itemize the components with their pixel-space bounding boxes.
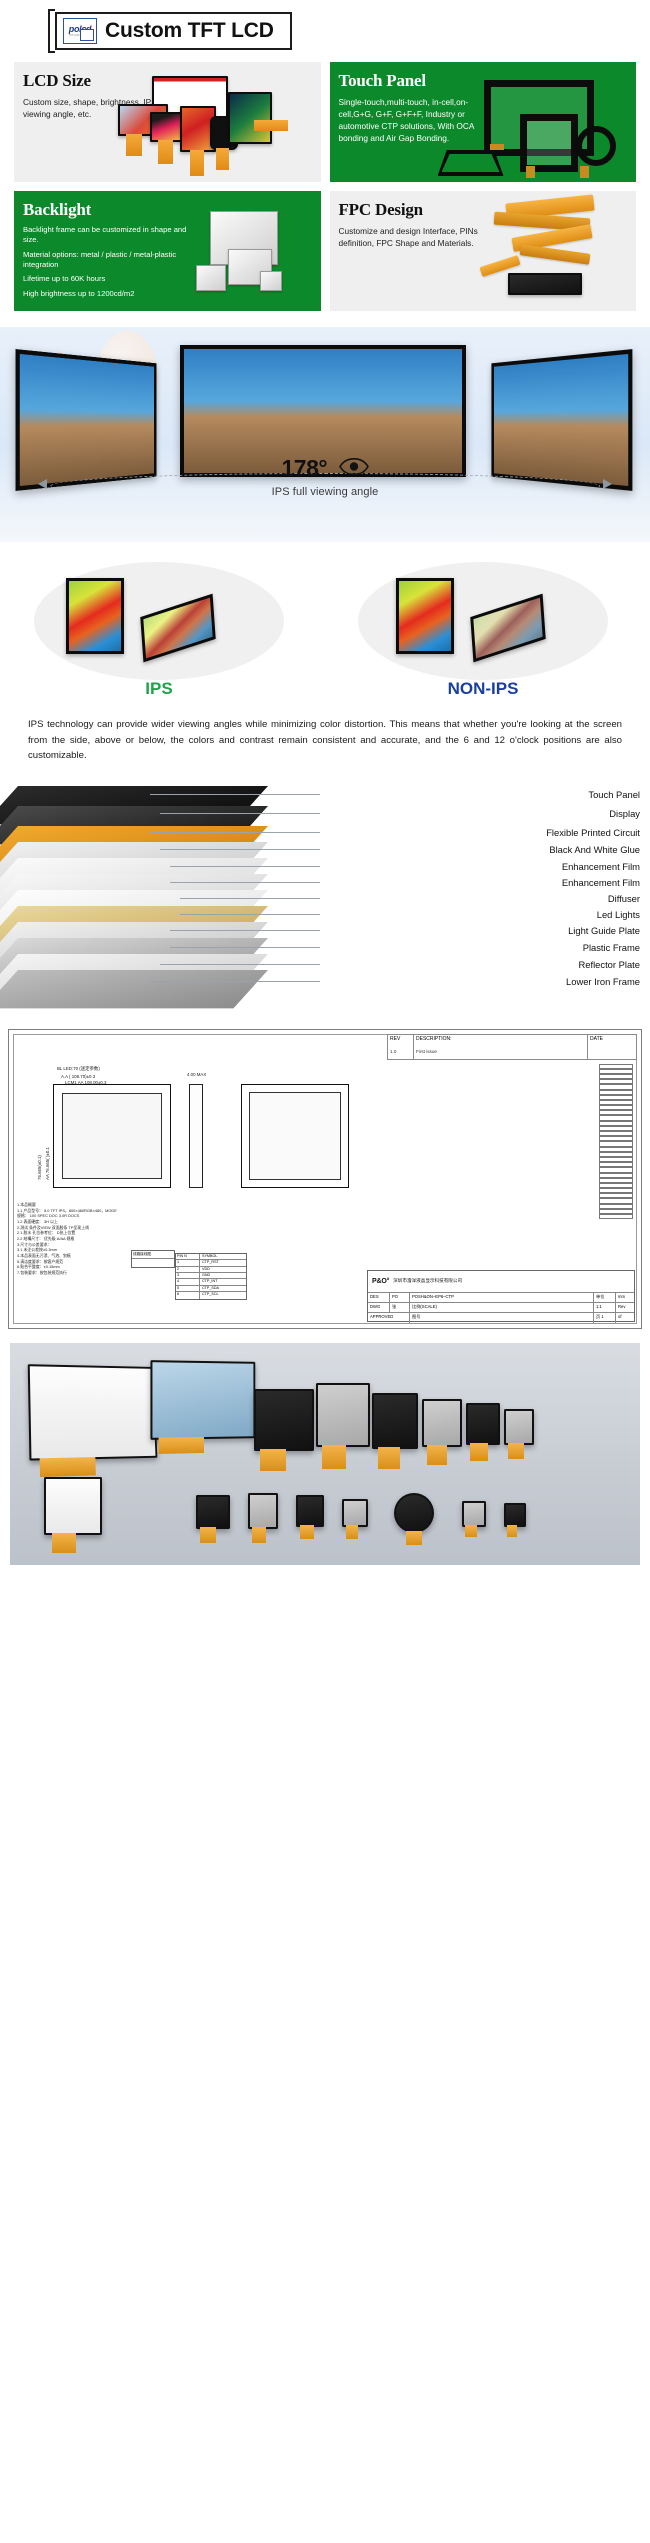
product-display-small-3 bbox=[372, 1393, 418, 1449]
feature-desc-backlight: Backlight frame can be customized in sha… bbox=[14, 225, 321, 299]
product-display-small-11 bbox=[462, 1501, 486, 1527]
layer-label: Display bbox=[609, 809, 640, 818]
pin-number: 1 bbox=[176, 1260, 200, 1265]
tb-cell-page: 页 1 bbox=[594, 1313, 616, 1323]
product-display-small-7 bbox=[196, 1495, 230, 1529]
pin-pad-row bbox=[599, 1214, 633, 1219]
pin-symbol: CTP_RST bbox=[200, 1260, 246, 1265]
ips-comparison: IPS NON-IPS bbox=[0, 556, 650, 711]
product-display-large bbox=[28, 1364, 158, 1460]
feature-card-backlight: Backlight Backlight frame can be customi… bbox=[14, 191, 321, 311]
tb-cell: DES bbox=[368, 1293, 390, 1302]
sign-box: 线路接线图 bbox=[131, 1250, 175, 1268]
tb-cell-approved: APPROVED bbox=[368, 1313, 410, 1323]
pin-symbol: GND bbox=[200, 1273, 246, 1278]
date-col-header: DATE bbox=[588, 1035, 636, 1059]
pin-col-header: PIN N bbox=[176, 1254, 200, 1259]
company-name-cn: 深圳市澛洋液晶显示科技有限公司 bbox=[393, 1278, 462, 1284]
tb-cell-unit: mm bbox=[616, 1293, 634, 1302]
desc-value: First issue bbox=[416, 1049, 585, 1054]
backlight-line-1: Backlight frame can be customized in sha… bbox=[23, 225, 202, 245]
leader-line bbox=[180, 898, 320, 899]
leader-line bbox=[170, 930, 320, 931]
brand-word: polcd bbox=[69, 25, 92, 34]
product-display-small-1 bbox=[254, 1389, 314, 1451]
pin-number: 2 bbox=[176, 1267, 200, 1272]
dim-label-height-2: AA 76.665( )±0.1 bbox=[45, 1147, 50, 1180]
layer-label: Black And White Glue bbox=[549, 845, 640, 854]
product-display-small-5 bbox=[466, 1403, 500, 1445]
desc-col-header: DESCRIPTION: First issue bbox=[414, 1035, 588, 1059]
rev-value: 1.0 bbox=[390, 1049, 411, 1054]
product-display-small-6 bbox=[504, 1409, 534, 1445]
eye-icon bbox=[339, 458, 369, 480]
feature-card-touch-panel: Touch Panel Single-touch,multi-touch, in… bbox=[330, 62, 637, 182]
feature-desc-lcd-size: Custom size, shape, brightness, IPS full… bbox=[14, 96, 192, 120]
leader-line bbox=[160, 849, 320, 850]
drawing-title-block: P&O° 深圳市澛洋液晶显示科技有限公司 DES PO POSH&ON–EP6–… bbox=[367, 1270, 635, 1322]
pin-symbol: CTP_SCL bbox=[200, 1292, 246, 1298]
feature-grid: LCD Size Custom size, shape, brightness,… bbox=[0, 58, 650, 311]
dim-label-thickness: 4.00 MAX bbox=[187, 1072, 206, 1077]
leader-line bbox=[160, 813, 320, 814]
leader-line bbox=[160, 964, 320, 965]
ips-parrot-portrait bbox=[66, 578, 124, 654]
tb-cell: 单位 bbox=[594, 1293, 616, 1302]
leader-line bbox=[150, 832, 320, 833]
pin-pad-column bbox=[599, 1064, 633, 1220]
pin-symbol: CTP_SDA bbox=[200, 1286, 246, 1291]
dim-label-bl-led: BL LED:70 (迷定参数) bbox=[57, 1066, 100, 1072]
viewing-angle-banner: 178° IPS full viewing angle bbox=[0, 327, 650, 542]
feature-title-backlight: Backlight bbox=[14, 191, 321, 225]
nonips-parrot-portrait bbox=[396, 578, 454, 654]
layer-label: Enhancement Film bbox=[562, 878, 640, 887]
dim-label-aa-width: A.A ( 108.70)±0.3 bbox=[61, 1074, 95, 1079]
leader-line bbox=[180, 914, 320, 915]
pin-number: 4 bbox=[176, 1279, 200, 1284]
pin-number: 3 bbox=[176, 1273, 200, 1278]
ips-description: IPS technology can provide wider viewing… bbox=[0, 711, 650, 764]
pin-symbol: VDD bbox=[200, 1267, 246, 1272]
tb-cell: PO bbox=[390, 1293, 410, 1302]
pin-number: 5 bbox=[176, 1286, 200, 1291]
tb-cell-scale: 比例(SCALE) bbox=[410, 1303, 594, 1312]
tb-cell-partno: POSH&ON–EP6–CTP bbox=[410, 1293, 594, 1302]
feature-desc-touch-panel: Single-touch,multi-touch, in-cell,on-cel… bbox=[330, 96, 489, 144]
product-display-small-9 bbox=[296, 1495, 324, 1527]
product-display-square-large bbox=[44, 1477, 102, 1535]
ips-label: IPS bbox=[34, 679, 284, 699]
backlight-line-4: High brightness up to 1200cd/m2 bbox=[23, 289, 202, 299]
tb-cell: 图号 bbox=[410, 1313, 594, 1323]
product-display-small-10 bbox=[342, 1499, 368, 1527]
feature-card-fpc-design: FPC Design Customize and design Interfac… bbox=[330, 191, 637, 311]
layer-label: Light Guide Plate bbox=[568, 926, 640, 935]
lcd-front-view bbox=[53, 1084, 171, 1188]
tb-cell: DWG bbox=[368, 1303, 390, 1312]
technical-drawing: REV 1.0 DESCRIPTION: First issue DATE BL… bbox=[8, 1029, 642, 1329]
note-line: 7.包装要求：按包装规范执行 bbox=[17, 1270, 167, 1276]
product-display-small-8 bbox=[248, 1493, 278, 1529]
product-display-medium bbox=[150, 1360, 255, 1440]
title-box: polcd TFT LCD MODULE Custom TFT LCD bbox=[55, 12, 292, 50]
symbol-col-header: SYMBOL bbox=[200, 1254, 246, 1259]
layer-label: Lower Iron Frame bbox=[566, 977, 640, 986]
page-title: Custom TFT LCD bbox=[105, 19, 274, 43]
tb-cell: 张 bbox=[390, 1303, 410, 1312]
feature-desc-fpc-design: Customize and design Interface, PINs def… bbox=[330, 225, 508, 249]
lcd-side-view bbox=[189, 1084, 203, 1188]
brand-subtitle: TFT LCD MODULE bbox=[69, 35, 91, 38]
title-block-row: DWG 张 比例(SCALE) 1:1 Rev bbox=[368, 1303, 634, 1313]
product-photo bbox=[10, 1343, 640, 1565]
layer-label: Diffuser bbox=[608, 894, 640, 903]
pin-number: 6 bbox=[176, 1292, 200, 1298]
tb-cell: of bbox=[616, 1313, 634, 1323]
pin-symbol: CTP_INT bbox=[200, 1279, 246, 1284]
product-display-round bbox=[394, 1493, 434, 1533]
layer-label: Reflector Plate bbox=[579, 960, 641, 969]
layer-label: Plastic Frame bbox=[583, 943, 640, 952]
tb-cell: 1:1 bbox=[594, 1303, 616, 1312]
nonips-label: NON-IPS bbox=[358, 679, 608, 699]
dim-label-height-1: 76.665(±0.1) bbox=[37, 1155, 42, 1180]
polcd-logo-icon: polcd TFT LCD MODULE bbox=[63, 18, 97, 44]
page-header: polcd TFT LCD MODULE Custom TFT LCD bbox=[0, 0, 650, 58]
viewing-angle-text-group: 178° IPS full viewing angle bbox=[0, 455, 650, 498]
layer-plate bbox=[0, 970, 268, 1008]
leader-line bbox=[150, 794, 320, 795]
backlight-line-2: Material options: metal / plastic / meta… bbox=[23, 250, 202, 270]
title-block-row: APPROVED 图号 页 1 of bbox=[368, 1313, 634, 1323]
company-name-en: P&O° bbox=[372, 1278, 389, 1285]
feature-title-touch-panel: Touch Panel bbox=[330, 62, 637, 96]
product-display-small-4 bbox=[422, 1399, 462, 1447]
viewing-angle-caption: IPS full viewing angle bbox=[0, 486, 650, 498]
layer-label: Touch Panel bbox=[588, 790, 640, 799]
revision-table: REV 1.0 DESCRIPTION: First issue DATE bbox=[387, 1034, 637, 1060]
feature-card-lcd-size: LCD Size Custom size, shape, brightness,… bbox=[14, 62, 321, 182]
pin-definition-table: PIN N SYMBOL 1 CTP_RST 2 VDD 3 GND 4 CTP… bbox=[175, 1253, 247, 1300]
viewing-angle-degrees: 178° bbox=[281, 455, 327, 482]
leader-line bbox=[170, 882, 320, 883]
rev-col-header: REV 1.0 bbox=[388, 1035, 414, 1059]
feature-title-fpc-design: FPC Design bbox=[330, 191, 637, 225]
exploded-layer-diagram: Touch Panel Display Flexible Printed Cir… bbox=[0, 780, 650, 1015]
title-block-company-row: P&O° 深圳市澛洋液晶显示科技有限公司 bbox=[368, 1271, 634, 1293]
layer-label: Flexible Printed Circuit bbox=[546, 828, 640, 837]
leader-line bbox=[170, 866, 320, 867]
product-display-small-2 bbox=[316, 1383, 370, 1447]
sign-box-title: 线路接线图 bbox=[132, 1251, 174, 1259]
leader-line bbox=[150, 981, 320, 982]
leader-line bbox=[170, 947, 320, 948]
tb-cell: Rev bbox=[616, 1303, 634, 1312]
feature-title-lcd-size: LCD Size bbox=[14, 62, 321, 96]
layer-label: Led Lights bbox=[597, 910, 640, 919]
lcd-ctp-view bbox=[241, 1084, 349, 1188]
title-block-row: DES PO POSH&ON–EP6–CTP 单位 mm bbox=[368, 1293, 634, 1303]
pin-table-row: 6 CTP_SCL bbox=[176, 1292, 246, 1298]
product-display-small-12 bbox=[504, 1503, 526, 1527]
layer-label: Enhancement Film bbox=[562, 862, 640, 871]
bracket-decoration bbox=[48, 9, 55, 53]
backlight-line-3: Lifetime up to 60K hours bbox=[23, 274, 202, 284]
